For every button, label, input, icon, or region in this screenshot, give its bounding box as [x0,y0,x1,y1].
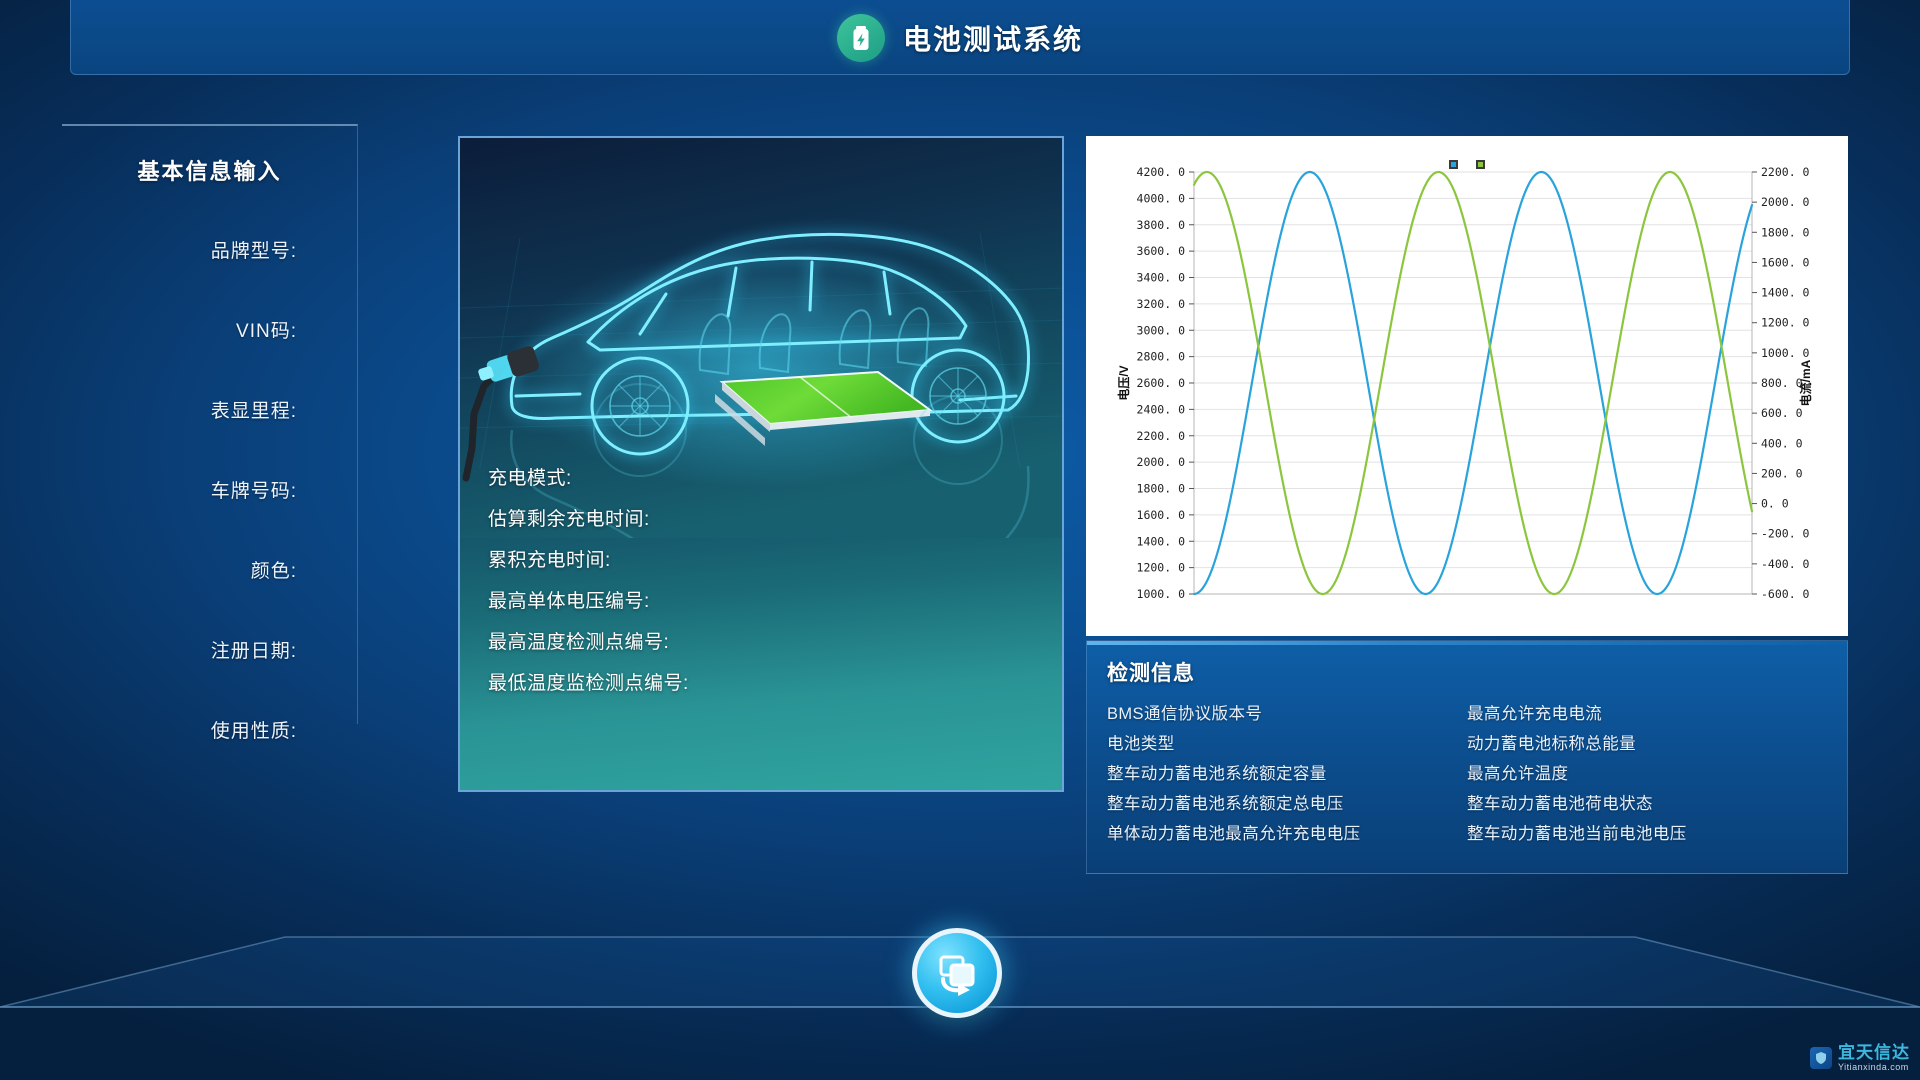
field-label: 使用性质: [211,716,297,743]
field-min-temperature-probe-number[interactable]: 最低温度监检测点编号: [488,661,1048,702]
svg-text:1800. 0: 1800. 0 [1137,482,1186,496]
sidebar-field-register-date[interactable]: 注册日期: [62,636,297,716]
svg-text:2000. 0: 2000. 0 [1761,195,1810,209]
field-label: 表显里程: [211,396,297,423]
panel-accent-bar [1087,641,1847,645]
watermark-cn: 宜天信达 [1838,1044,1910,1061]
svg-text:1800. 0: 1800. 0 [1761,225,1810,239]
svg-text:3800. 0: 3800. 0 [1137,218,1186,232]
detect-item-battery-type[interactable]: 电池类型 [1107,729,1467,759]
svg-text:1400. 0: 1400. 0 [1761,286,1810,300]
watermark: 宜天信达 Yitianxinda.com [1810,1044,1910,1072]
field-max-temperature-probe-number[interactable]: 最高温度检测点编号: [488,620,1048,661]
watermark-texts: 宜天信达 Yitianxinda.com [1838,1044,1910,1072]
field-label: 累积充电时间: [488,545,611,572]
svg-text:3600. 0: 3600. 0 [1137,244,1186,258]
switch-windows-icon [933,949,981,997]
field-label: 充电模式: [488,463,572,490]
svg-text:2400. 0: 2400. 0 [1137,402,1186,416]
svg-text:1600. 0: 1600. 0 [1761,255,1810,269]
watermark-en: Yitianxinda.com [1838,1063,1910,1072]
field-label: VIN码: [236,316,297,343]
detect-item-nominal-total-energy[interactable]: 动力蓄电池标称总能量 [1467,729,1827,759]
svg-text:200. 0: 200. 0 [1761,466,1803,480]
app-title: 电池测试系统 [903,18,1083,58]
svg-text:3400. 0: 3400. 0 [1137,271,1186,285]
svg-text:2200. 0: 2200. 0 [1137,429,1186,443]
sidebar-field-list: 品牌型号: VIN码: 表显里程: 车牌号码: 颜色: 注册日期: 使用性质: [62,236,357,796]
svg-text:电压/V: 电压/V [1116,365,1131,400]
battery-icon [837,14,885,62]
header-row: 电池测试系统 [71,0,1849,75]
chart-svg: 1000. 01200. 01400. 01600. 01800. 02000.… [1086,136,1848,636]
svg-text:-600. 0: -600. 0 [1761,587,1810,601]
svg-text:电流/mA: 电流/mA [1798,359,1813,406]
shield-icon [1810,1047,1832,1069]
switch-view-button[interactable] [912,928,1002,1018]
detect-item-current-battery-voltage[interactable]: 整车动力蓄电池当前电池电压 [1467,819,1827,849]
svg-text:2200. 0: 2200. 0 [1761,165,1810,179]
detect-item-rated-total-voltage[interactable]: 整车动力蓄电池系统额定总电压 [1107,789,1467,819]
svg-text:-200. 0: -200. 0 [1761,527,1810,541]
detection-info-grid: BMS通信协议版本号 最高允许充电电流 电池类型 动力蓄电池标称总能量 整车动力… [1087,699,1847,849]
detect-item-max-allowed-charge-current[interactable]: 最高允许充电电流 [1467,699,1827,729]
field-max-cell-voltage-number[interactable]: 最高单体电压编号: [488,579,1048,620]
svg-text:3000. 0: 3000. 0 [1137,323,1186,337]
header-band: 电池测试系统 [70,0,1850,75]
svg-text:600. 0: 600. 0 [1761,406,1803,420]
svg-text:0. 0: 0. 0 [1761,497,1789,511]
field-label: 品牌型号: [211,236,297,263]
field-cumulative-charge-time[interactable]: 累积充电时间: [488,538,1048,579]
detect-item-bms-protocol-version[interactable]: BMS通信协议版本号 [1107,699,1467,729]
vehicle-charging-panel: 充电模式: 估算剩余充电时间: 累积充电时间: 最高单体电压编号: 最高温度检测… [458,136,1064,792]
detection-info-panel: 检测信息 BMS通信协议版本号 最高允许充电电流 电池类型 动力蓄电池标称总能量… [1086,640,1848,874]
chart-plot-area: 1000. 01200. 01400. 01600. 01800. 02000.… [1086,136,1848,636]
svg-text:1000. 0: 1000. 0 [1761,346,1810,360]
svg-text:1200. 0: 1200. 0 [1761,316,1810,330]
field-label: 颜色: [251,556,297,583]
field-label: 车牌号码: [211,476,297,503]
svg-text:800. 0: 800. 0 [1761,376,1803,390]
svg-text:1400. 0: 1400. 0 [1137,534,1186,548]
field-label: 最高温度检测点编号: [488,627,669,654]
sidebar-field-brand-model[interactable]: 品牌型号: [62,236,297,316]
svg-text:1600. 0: 1600. 0 [1137,508,1186,522]
svg-text:3200. 0: 3200. 0 [1137,297,1186,311]
basic-info-sidebar: 基本信息输入 品牌型号: VIN码: 表显里程: 车牌号码: 颜色: 注册日期:… [62,124,358,724]
field-label: 最高单体电压编号: [488,586,650,613]
field-estimated-remaining-charge-time[interactable]: 估算剩余充电时间: [488,497,1048,538]
svg-text:2800. 0: 2800. 0 [1137,350,1186,364]
field-charge-mode[interactable]: 充电模式: [488,456,1048,497]
svg-text:4000. 0: 4000. 0 [1137,191,1186,205]
detect-item-state-of-charge[interactable]: 整车动力蓄电池荷电状态 [1467,789,1827,819]
svg-text:-400. 0: -400. 0 [1761,557,1810,571]
field-label: 最低温度监检测点编号: [488,668,689,695]
svg-text:1200. 0: 1200. 0 [1137,561,1186,575]
svg-text:1000. 0: 1000. 0 [1137,587,1186,601]
sidebar-field-mileage[interactable]: 表显里程: [62,396,297,476]
charging-field-list: 充电模式: 估算剩余充电时间: 累积充电时间: 最高单体电压编号: 最高温度检测… [488,456,1048,702]
sidebar-field-vin[interactable]: VIN码: [62,316,297,396]
svg-text:4200. 0: 4200. 0 [1137,165,1186,179]
sidebar-field-color[interactable]: 颜色: [62,556,297,636]
svg-text:2600. 0: 2600. 0 [1137,376,1186,390]
detection-info-title: 检测信息 [1087,641,1847,687]
detect-item-max-allowed-temperature[interactable]: 最高允许温度 [1467,759,1827,789]
svg-text:2000. 0: 2000. 0 [1137,455,1186,469]
detect-item-cell-max-allowed-charge-voltage[interactable]: 单体动力蓄电池最高允许充电电压 [1107,819,1467,849]
sidebar-title: 基本信息输入 [62,154,357,186]
detect-item-rated-capacity[interactable]: 整车动力蓄电池系统额定容量 [1107,759,1467,789]
field-label: 估算剩余充电时间: [488,504,650,531]
field-label: 注册日期: [211,636,297,663]
voltage-current-chart-panel: 1000. 01200. 01400. 01600. 01800. 02000.… [1086,136,1848,636]
svg-text:400. 0: 400. 0 [1761,436,1803,450]
sidebar-field-usage-type[interactable]: 使用性质: [62,716,297,796]
sidebar-field-plate-number[interactable]: 车牌号码: [62,476,297,556]
